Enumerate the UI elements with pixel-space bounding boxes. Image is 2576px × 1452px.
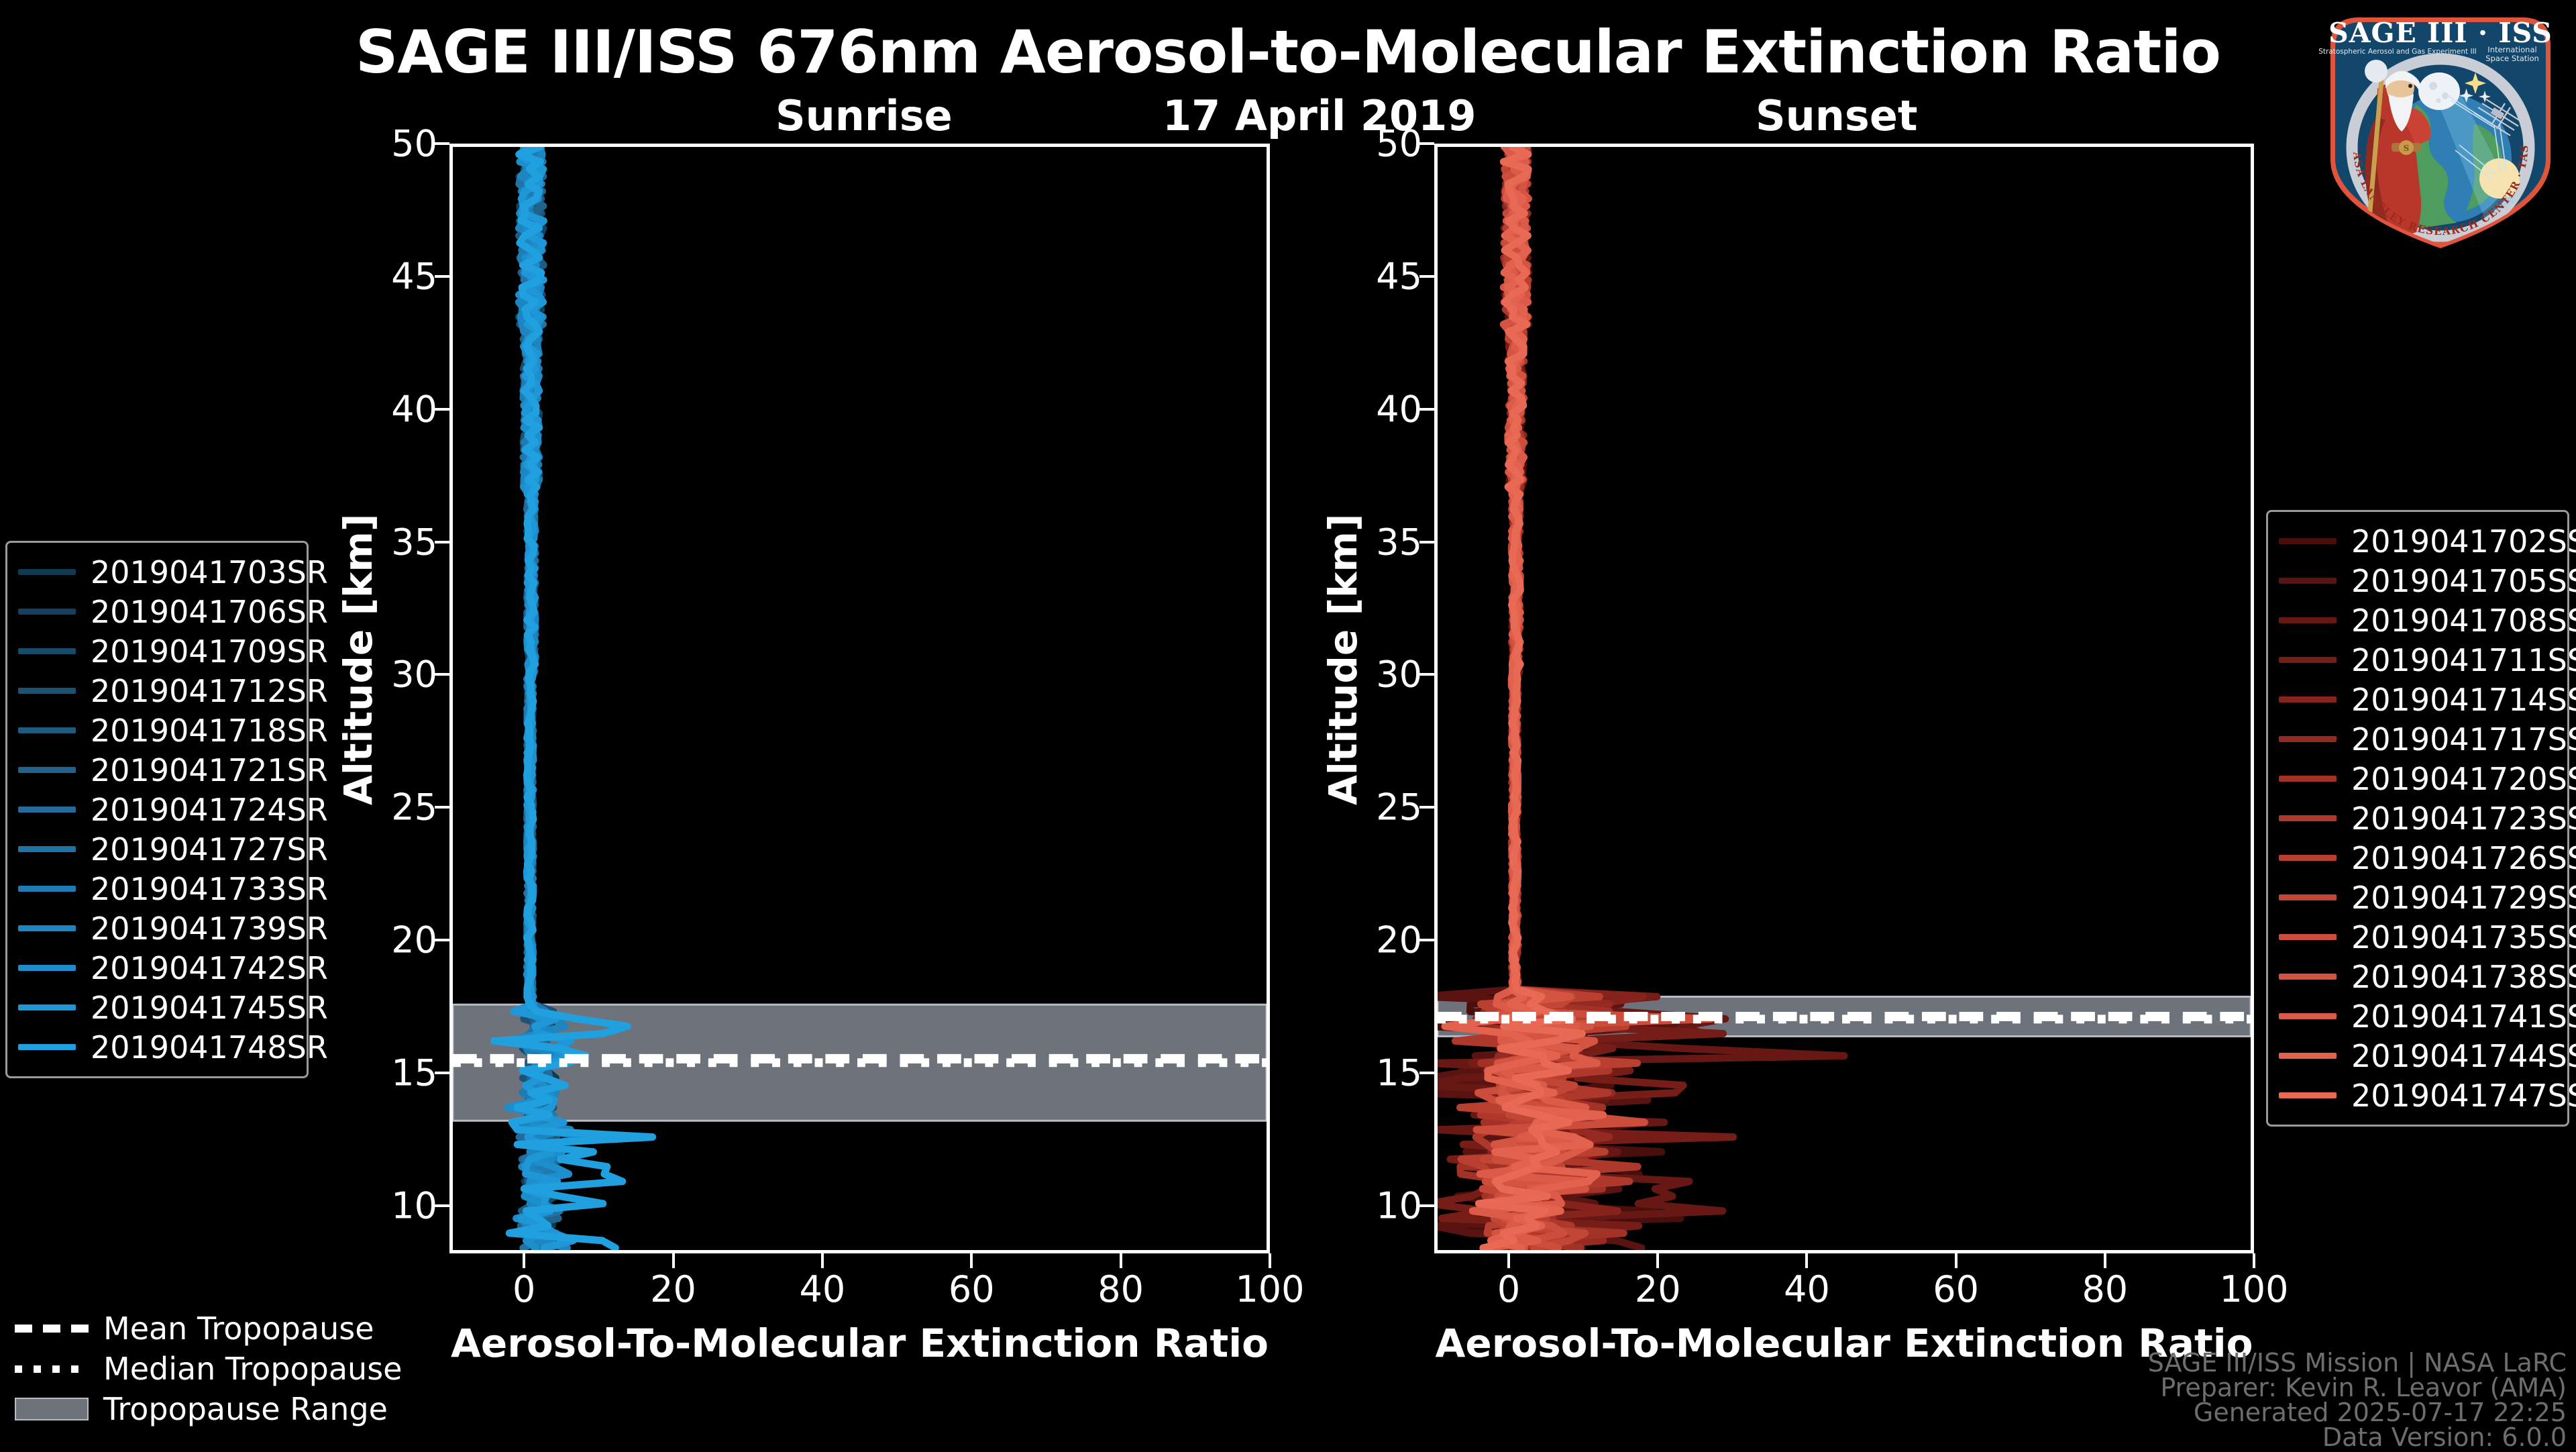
logo-subtitle-right-2: Space Station	[2485, 54, 2539, 63]
y-tick-mark-sr-25	[435, 806, 449, 809]
x-tick-label-ss-80: 80	[2051, 1268, 2159, 1310]
legend-sunset-events: 2019041702SS2019041705SS2019041708SS2019…	[2266, 510, 2569, 1127]
y-tick-mark-ss-50	[1419, 142, 1434, 145]
tropopause-legend-item-band[interactable]: Tropopause Range	[15, 1389, 390, 1429]
y-tick-label-sr-20: 20	[343, 919, 437, 962]
x-tick-mark-ss-60	[1955, 1253, 1957, 1268]
legend-item-label: 2019041733SR	[91, 871, 328, 907]
legend-color-swatch-icon	[2279, 1092, 2337, 1098]
legend-item-2019041714SS[interactable]: 2019041714SS	[2279, 680, 2554, 719]
legend-item-2019041739SR[interactable]: 2019041739SR	[18, 909, 293, 948]
y-tick-mark-sr-15	[435, 1072, 449, 1074]
x-tick-label-sr-0: 0	[470, 1268, 578, 1310]
y-tick-mark-sr-45	[435, 275, 449, 278]
legend-item-label: 2019041709SR	[91, 633, 328, 670]
credits-line-3: Data Version: 6.0.0	[2148, 1425, 2567, 1450]
plot-panel-sunrise	[449, 144, 1270, 1253]
y-tick-mark-ss-15	[1419, 1072, 1434, 1074]
legend-item-2019041711SS[interactable]: 2019041711SS	[2279, 640, 2554, 680]
y-tick-label-ss-40: 40	[1328, 388, 1422, 430]
y-tick-label-ss-45: 45	[1328, 255, 1422, 297]
x-tick-mark-ss-20	[1656, 1253, 1659, 1268]
y-tick-label-ss-15: 15	[1328, 1051, 1422, 1094]
legend-color-swatch-icon	[2279, 1013, 2337, 1019]
legend-item-label: 2019041714SS	[2351, 682, 2576, 718]
logo-subtitle-right-1: International	[2487, 45, 2536, 54]
y-tick-mark-sr-40	[435, 408, 449, 411]
y-tick-mark-ss-30	[1419, 673, 1434, 676]
x-axis-title-sunset: Aerosol-To-Molecular Extinction Ratio	[1434, 1320, 2254, 1366]
legend-item-label: 2019041724SR	[91, 792, 328, 828]
legend-color-swatch-icon	[18, 886, 76, 892]
legend-item-2019041712SR[interactable]: 2019041712SR	[18, 671, 293, 711]
y-tick-label-sr-45: 45	[343, 255, 437, 297]
legend-item-2019041708SS[interactable]: 2019041708SS	[2279, 601, 2554, 640]
legend-item-label: 2019041738SS	[2351, 959, 2576, 995]
legend-item-2019041742SR[interactable]: 2019041742SR	[18, 948, 293, 988]
legend-item-label: 2019041741SS	[2351, 998, 2576, 1035]
plot-panel-sunset	[1434, 144, 2254, 1253]
legend-item-2019041733SR[interactable]: 2019041733SR	[18, 869, 293, 909]
logo-title: SAGE III · ISS	[2328, 17, 2553, 49]
legend-color-swatch-icon	[2279, 1053, 2337, 1059]
legend-item-2019041726SS[interactable]: 2019041726SS	[2279, 838, 2554, 878]
x-tick-label-ss-40: 40	[1753, 1268, 1860, 1310]
x-tick-mark-ss-100	[2253, 1253, 2255, 1268]
y-tick-label-sr-40: 40	[343, 388, 437, 430]
y-tick-label-sr-50: 50	[343, 123, 437, 165]
legend-item-2019041721SR[interactable]: 2019041721SR	[18, 750, 293, 790]
legend-color-swatch-icon	[18, 1044, 76, 1050]
x-tick-label-ss-100: 100	[2200, 1268, 2308, 1310]
legend-color-swatch-icon	[2279, 894, 2337, 900]
y-tick-mark-ss-40	[1419, 408, 1434, 411]
filled-band-icon	[15, 1400, 89, 1418]
legend-color-swatch-icon	[2279, 657, 2337, 663]
legend-item-2019041705SS[interactable]: 2019041705SS	[2279, 561, 2554, 601]
legend-color-swatch-icon	[2279, 974, 2337, 980]
x-tick-label-ss-20: 20	[1604, 1268, 1711, 1310]
sage-iii-iss-logo: S SAGE III · ISS Stratospheric Aerosol a…	[2316, 5, 2565, 255]
legend-item-label: 2019041726SS	[2351, 840, 2576, 876]
legend-color-swatch-icon	[2279, 538, 2337, 544]
dashed-line-icon	[15, 1320, 89, 1337]
legend-item-2019041738SS[interactable]: 2019041738SS	[2279, 957, 2554, 996]
legend-color-swatch-icon	[2279, 815, 2337, 821]
legend-item-2019041727SR[interactable]: 2019041727SR	[18, 829, 293, 869]
legend-color-swatch-icon	[18, 609, 76, 615]
y-tick-mark-sr-30	[435, 673, 449, 676]
legend-item-2019041723SS[interactable]: 2019041723SS	[2279, 798, 2554, 838]
y-tick-label-sr-15: 15	[343, 1051, 437, 1094]
tropopause-legend-label: Mean Tropopause	[103, 1310, 374, 1347]
legend-item-label: 2019041745SR	[91, 990, 328, 1026]
legend-item-label: 2019041727SR	[91, 831, 328, 868]
y-tick-label-ss-50: 50	[1328, 123, 1422, 165]
panel-label-sunrise: Sunrise	[775, 91, 953, 140]
y-axis-title-sunrise: Altitude [km]	[335, 514, 381, 805]
legend-item-label: 2019041720SS	[2351, 761, 2576, 797]
tropopause-legend-label: Median Tropopause	[103, 1351, 402, 1387]
x-tick-mark-ss-40	[1805, 1253, 1808, 1268]
x-tick-mark-sr-0	[523, 1253, 525, 1268]
legend-item-label: 2019041739SR	[91, 911, 328, 947]
x-tick-label-sr-20: 20	[620, 1268, 727, 1310]
legend-item-label: 2019041706SR	[91, 594, 328, 630]
x-axis-title-sunrise: Aerosol-To-Molecular Extinction Ratio	[449, 1320, 1270, 1366]
legend-color-swatch-icon	[18, 1004, 76, 1010]
legend-item-2019041720SS[interactable]: 2019041720SS	[2279, 759, 2554, 798]
y-tick-mark-sr-20	[435, 939, 449, 941]
legend-tropopause: Mean TropopauseMedian TropopauseTropopau…	[15, 1308, 390, 1429]
legend-color-swatch-icon	[18, 807, 76, 813]
legend-item-2019041709SR[interactable]: 2019041709SR	[18, 631, 293, 671]
legend-color-swatch-icon	[2279, 776, 2337, 782]
y-axis-title-sunset: Altitude [km]	[1320, 514, 1366, 805]
credits-line-1: Preparer: Kevin R. Leavor (AMA)	[2148, 1376, 2567, 1400]
legend-color-swatch-icon	[18, 569, 76, 575]
legend-item-2019041702SS[interactable]: 2019041702SS	[2279, 521, 2554, 561]
legend-color-swatch-icon	[18, 648, 76, 654]
legend-sunrise-events: 2019041703SR2019041706SR2019041709SR2019…	[5, 541, 309, 1078]
legend-item-2019041744SS[interactable]: 2019041744SS	[2279, 1036, 2554, 1076]
legend-item-label: 2019041712SR	[91, 673, 328, 709]
panel-label-sunset: Sunset	[1756, 91, 1918, 140]
y-tick-mark-sr-10	[435, 1204, 449, 1207]
legend-item-2019041747SS[interactable]: 2019041747SS	[2279, 1076, 2554, 1115]
legend-item-label: 2019041748SR	[91, 1029, 328, 1066]
x-tick-label-ss-0: 0	[1455, 1268, 1562, 1310]
logo-subtitle-left: Stratospheric Aerosol and Gas Experiment…	[2318, 48, 2477, 56]
legend-item-label: 2019041702SS	[2351, 523, 2576, 560]
legend-item-label: 2019041717SS	[2351, 721, 2576, 758]
legend-item-2019041706SR[interactable]: 2019041706SR	[18, 592, 293, 631]
legend-color-swatch-icon	[18, 925, 76, 931]
legend-item-2019041745SR[interactable]: 2019041745SR	[18, 988, 293, 1027]
x-tick-mark-sr-80	[1120, 1253, 1122, 1268]
legend-item-label: 2019041703SR	[91, 554, 328, 590]
legend-color-swatch-icon	[2279, 696, 2337, 703]
legend-color-swatch-icon	[2279, 736, 2337, 742]
legend-item-label: 2019041711SS	[2351, 642, 2576, 678]
y-tick-mark-ss-45	[1419, 275, 1434, 278]
y-tick-mark-sr-35	[435, 541, 449, 543]
legend-item-label: 2019041721SR	[91, 752, 328, 788]
legend-item-label: 2019041729SS	[2351, 880, 2576, 916]
x-tick-mark-ss-80	[2104, 1253, 2106, 1268]
legend-color-swatch-icon	[18, 727, 76, 733]
x-tick-label-sr-100: 100	[1216, 1268, 1324, 1310]
y-tick-label-ss-20: 20	[1328, 919, 1422, 962]
y-tick-label-sr-10: 10	[343, 1184, 437, 1227]
x-tick-label-sr-60: 60	[918, 1268, 1025, 1310]
page-title: SAGE III/ISS 676nm Aerosol-to-Molecular …	[0, 17, 2576, 87]
legend-item-2019041741SS[interactable]: 2019041741SS	[2279, 996, 2554, 1036]
y-tick-mark-ss-10	[1419, 1204, 1434, 1207]
legend-item-2019041724SR[interactable]: 2019041724SR	[18, 790, 293, 829]
legend-color-swatch-icon	[2279, 578, 2337, 584]
x-tick-mark-sr-20	[672, 1253, 675, 1268]
observation-date: 17 April 2019	[1163, 91, 1476, 140]
dotted-line-icon	[15, 1360, 89, 1378]
y-tick-mark-ss-20	[1419, 939, 1434, 941]
credits-line-0: SAGE III/ISS Mission | NASA LaRC	[2148, 1351, 2567, 1376]
legend-item-2019041748SR[interactable]: 2019041748SR	[18, 1027, 293, 1067]
credits-line-2: Generated 2025-07-17 22:25	[2148, 1400, 2567, 1425]
legend-item-label: 2019041744SS	[2351, 1038, 2576, 1074]
legend-color-swatch-icon	[18, 965, 76, 971]
legend-item-label: 2019041705SS	[2351, 563, 2576, 599]
y-tick-label-ss-10: 10	[1328, 1184, 1422, 1227]
x-tick-label-sr-80: 80	[1067, 1268, 1175, 1310]
x-tick-mark-sr-60	[970, 1253, 973, 1268]
credits-block: SAGE III/ISS Mission | NASA LaRCPreparer…	[2148, 1351, 2567, 1450]
legend-color-swatch-icon	[18, 846, 76, 852]
legend-color-swatch-icon	[18, 767, 76, 773]
tropopause-legend-label: Tropopause Range	[103, 1391, 388, 1427]
legend-item-label: 2019041742SR	[91, 950, 328, 986]
legend-item-label: 2019041747SS	[2351, 1078, 2576, 1114]
legend-item-2019041717SS[interactable]: 2019041717SS	[2279, 719, 2554, 759]
x-tick-label-sr-40: 40	[769, 1268, 876, 1310]
legend-item-2019041735SS[interactable]: 2019041735SS	[2279, 917, 2554, 957]
x-tick-mark-sr-40	[821, 1253, 824, 1268]
legend-color-swatch-icon	[2279, 934, 2337, 940]
legend-color-swatch-icon	[2279, 855, 2337, 861]
legend-color-swatch-icon	[18, 688, 76, 694]
legend-item-label: 2019041723SS	[2351, 800, 2576, 837]
y-tick-mark-ss-35	[1419, 541, 1434, 543]
tropopause-legend-item-dashed[interactable]: Mean Tropopause	[15, 1308, 390, 1349]
tropopause-legend-item-dotted[interactable]: Median Tropopause	[15, 1349, 390, 1389]
svg-text:S: S	[2404, 144, 2410, 153]
y-tick-mark-ss-25	[1419, 806, 1434, 809]
x-tick-mark-ss-0	[1507, 1253, 1510, 1268]
y-tick-mark-sr-50	[435, 142, 449, 145]
legend-item-2019041703SR[interactable]: 2019041703SR	[18, 552, 293, 592]
x-tick-label-ss-60: 60	[1902, 1268, 2010, 1310]
legend-item-label: 2019041718SR	[91, 713, 328, 749]
x-tick-mark-sr-100	[1269, 1253, 1271, 1268]
legend-item-2019041729SS[interactable]: 2019041729SS	[2279, 878, 2554, 917]
legend-item-label: 2019041735SS	[2351, 919, 2576, 955]
legend-color-swatch-icon	[2279, 617, 2337, 623]
legend-item-label: 2019041708SS	[2351, 603, 2576, 639]
legend-item-2019041718SR[interactable]: 2019041718SR	[18, 711, 293, 750]
